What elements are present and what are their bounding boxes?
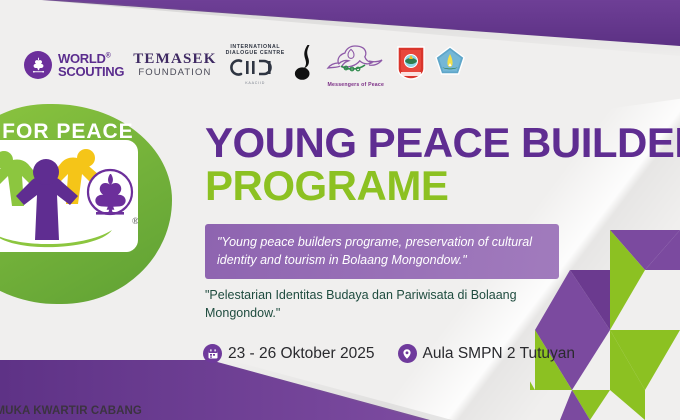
badge-people-icon: ®: [0, 140, 138, 252]
poster-title: YOUNG PEACE BUILDERS PROGRAME: [205, 122, 680, 208]
calendar-icon: [203, 344, 222, 363]
scout-crest-icon: [435, 46, 465, 85]
messengers-of-peace-logo: Messengers of Peace: [325, 42, 387, 88]
ciid-line3: KAACIID: [226, 82, 285, 86]
event-venue-chip: Aula SMPN 2 Tutuyan: [398, 344, 576, 363]
temasek-line1: TEMASEK: [133, 52, 216, 67]
bolaang-mongondow-timur-crest: [396, 46, 426, 85]
event-venue-text: Aula SMPN 2 Tutuyan: [423, 345, 576, 363]
pramuka-crest: [435, 46, 465, 85]
world-scouting-wordmark: WORLD® SCOUTING: [58, 52, 124, 78]
event-poster: WORLD® SCOUTING TEMASEK FOUNDATION INTER…: [0, 0, 680, 420]
ciid-line1: INTERNATIONAL: [226, 45, 285, 50]
world-scouting-logo: WORLD® SCOUTING: [24, 51, 124, 79]
location-pin-icon: [398, 344, 417, 363]
event-date-text: 23 - 26 Oktober 2025: [228, 345, 375, 363]
badge-registered-mark: ®: [132, 216, 138, 226]
messengers-of-peace-label: Messengers of Peace: [325, 83, 387, 88]
event-date-chip: 23 - 26 Oktober 2025: [203, 344, 375, 363]
music-note-logo: [294, 45, 316, 86]
quote-english-text: "Young peace builders programe, preserva…: [217, 233, 547, 269]
temasek-foundation-logo: TEMASEK FOUNDATION: [133, 52, 216, 78]
music-note-icon: [294, 45, 316, 86]
dove-icon: [325, 65, 387, 82]
ciid-mark-icon: [226, 59, 285, 80]
quote-indonesian-text: "Pelestarian Identitas Budaya dan Pariwi…: [205, 286, 577, 322]
temasek-line2: FOUNDATION: [133, 68, 216, 78]
world-scouting-line2: SCOUTING: [58, 65, 124, 78]
ciid-logo: INTERNATIONAL DIALOGUE CENTRE KAACIID: [226, 45, 285, 86]
ciid-line2: DIALOGUE CENTRE: [226, 51, 285, 56]
partner-logo-bar: WORLD® SCOUTING TEMASEK FOUNDATION INTER…: [24, 36, 465, 94]
messengers-of-peace-badge: E FOR PEACE ® AKAN PRAMUKA KWARTIR CABAN…: [0, 104, 172, 304]
badge-caption-line1: AKAN PRAMUKA KWARTIR CABANG: [0, 404, 149, 420]
quote-english-box: "Young peace builders programe, preserva…: [205, 224, 559, 279]
fleur-de-lis-icon: [24, 51, 52, 79]
title-line-1: YOUNG PEACE BUILDERS: [205, 122, 680, 163]
regency-crest-icon: [396, 46, 426, 85]
event-meta: 23 - 26 Oktober 2025 Aula SMPN 2 Tutuyan: [203, 344, 575, 363]
title-line-2: PROGRAME: [205, 165, 680, 208]
world-scouting-trademark: ®: [106, 53, 111, 60]
badge-caption: AKAN PRAMUKA KWARTIR CABANG BOLAANG MONG…: [0, 404, 149, 420]
